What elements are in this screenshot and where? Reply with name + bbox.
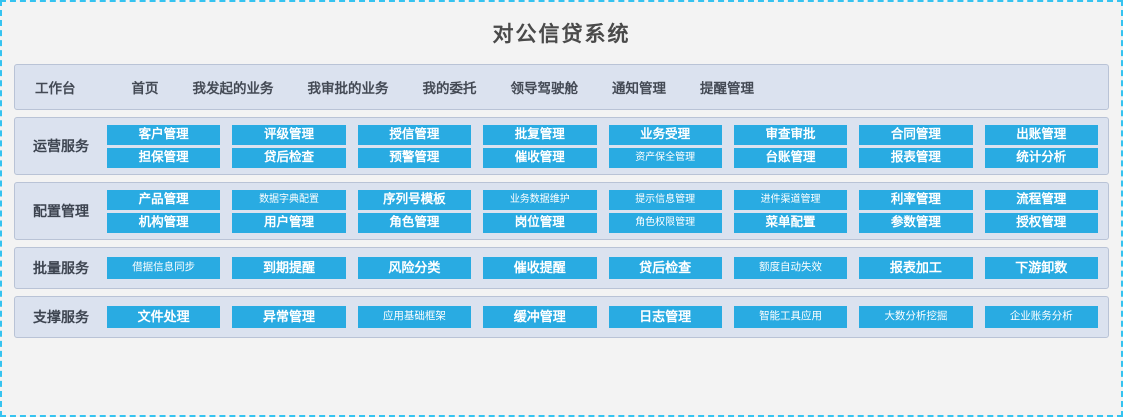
button-cell: 数据字典配置 xyxy=(232,190,345,210)
menu-button[interactable]: 评级管理 xyxy=(232,125,345,145)
title-bar: 对公信贷系统 xyxy=(14,2,1109,64)
menu-button[interactable]: 提示信息管理 xyxy=(609,190,722,210)
button-row: 文件处理异常管理应用基础框架缓冲管理日志管理智能工具应用大数分析挖掘企业账务分析 xyxy=(107,306,1098,328)
section-1: 配置管理产品管理数据字典配置序列号模板业务数据维护提示信息管理进件渠道管理利率管… xyxy=(14,182,1109,240)
button-cell: 风险分类 xyxy=(358,257,471,279)
nav-item-3[interactable]: 我审批的业务 xyxy=(308,77,389,97)
button-cell: 授权管理 xyxy=(985,213,1098,233)
menu-button[interactable]: 催收提醒 xyxy=(483,257,596,279)
button-cell: 授信管理 xyxy=(358,125,471,145)
button-cell: 客户管理 xyxy=(107,125,220,145)
button-cell: 合同管理 xyxy=(859,125,972,145)
button-cell: 贷后检查 xyxy=(609,257,722,279)
nav-item-1[interactable]: 首页 xyxy=(132,77,159,97)
menu-button[interactable]: 授权管理 xyxy=(985,213,1098,233)
button-cell: 参数管理 xyxy=(859,213,972,233)
button-cell: 业务数据维护 xyxy=(483,190,596,210)
menu-button[interactable]: 智能工具应用 xyxy=(734,306,847,328)
menu-button[interactable]: 催收管理 xyxy=(483,148,596,168)
menu-button[interactable]: 报表加工 xyxy=(859,257,972,279)
menu-button[interactable]: 合同管理 xyxy=(859,125,972,145)
menu-button[interactable]: 风险分类 xyxy=(358,257,471,279)
button-cell: 业务受理 xyxy=(609,125,722,145)
button-cell: 审查审批 xyxy=(734,125,847,145)
menu-button[interactable]: 借据信息同步 xyxy=(107,257,220,279)
menu-button[interactable]: 参数管理 xyxy=(859,213,972,233)
menu-button[interactable]: 下游卸数 xyxy=(985,257,1098,279)
button-cell: 角色管理 xyxy=(358,213,471,233)
section-button-grid-0: 客户管理评级管理授信管理批复管理业务受理审查审批合同管理出账管理担保管理贷后检查… xyxy=(107,125,1098,168)
section-2: 批量服务借据信息同步到期提醒风险分类催收提醒贷后检查额度自动失效报表加工下游卸数 xyxy=(14,247,1109,289)
button-cell: 报表管理 xyxy=(859,148,972,168)
button-cell: 智能工具应用 xyxy=(734,306,847,328)
button-cell: 催收管理 xyxy=(483,148,596,168)
button-row: 担保管理贷后检查预警管理催收管理资产保全管理台账管理报表管理统计分析 xyxy=(107,148,1098,168)
button-cell: 资产保全管理 xyxy=(609,148,722,168)
button-row: 机构管理用户管理角色管理岗位管理角色权限管理菜单配置参数管理授权管理 xyxy=(107,213,1098,233)
menu-button[interactable]: 业务数据维护 xyxy=(483,190,596,210)
button-cell: 批复管理 xyxy=(483,125,596,145)
button-cell: 日志管理 xyxy=(609,306,722,328)
menu-button[interactable]: 大数分析挖掘 xyxy=(859,306,972,328)
section-label-2: 批量服务 xyxy=(15,258,107,278)
menu-button[interactable]: 进件渠道管理 xyxy=(734,190,847,210)
button-cell: 菜单配置 xyxy=(734,213,847,233)
menu-button[interactable]: 流程管理 xyxy=(985,190,1098,210)
menu-button[interactable]: 资产保全管理 xyxy=(609,148,722,168)
menu-button[interactable]: 日志管理 xyxy=(609,306,722,328)
app-root: 对公信贷系统 工作台首页我发起的业务我审批的业务我的委托领导驾驶舱通知管理提醒管… xyxy=(0,0,1123,417)
section-label-0: 运营服务 xyxy=(15,136,107,156)
button-cell: 岗位管理 xyxy=(483,213,596,233)
menu-button[interactable]: 到期提醒 xyxy=(232,257,345,279)
button-cell: 到期提醒 xyxy=(232,257,345,279)
button-cell: 进件渠道管理 xyxy=(734,190,847,210)
button-cell: 应用基础框架 xyxy=(358,306,471,328)
button-cell: 企业账务分析 xyxy=(985,306,1098,328)
sections-container: 运营服务客户管理评级管理授信管理批复管理业务受理审查审批合同管理出账管理担保管理… xyxy=(14,117,1109,338)
nav-item-2[interactable]: 我发起的业务 xyxy=(193,77,274,97)
menu-button[interactable]: 额度自动失效 xyxy=(734,257,847,279)
button-cell: 提示信息管理 xyxy=(609,190,722,210)
menu-button[interactable]: 缓冲管理 xyxy=(483,306,596,328)
menu-button[interactable]: 角色权限管理 xyxy=(609,213,722,233)
button-cell: 预警管理 xyxy=(358,148,471,168)
button-cell: 序列号模板 xyxy=(358,190,471,210)
button-cell: 出账管理 xyxy=(985,125,1098,145)
button-row: 客户管理评级管理授信管理批复管理业务受理审查审批合同管理出账管理 xyxy=(107,125,1098,145)
button-cell: 机构管理 xyxy=(107,213,220,233)
section-label-1: 配置管理 xyxy=(15,201,107,221)
nav-item-6[interactable]: 通知管理 xyxy=(612,77,666,97)
section-label-3: 支撑服务 xyxy=(15,307,107,327)
nav-item-5[interactable]: 领导驾驶舱 xyxy=(511,77,579,97)
button-cell: 产品管理 xyxy=(107,190,220,210)
menu-button[interactable]: 用户管理 xyxy=(232,213,345,233)
menu-button[interactable]: 统计分析 xyxy=(985,148,1098,168)
menu-button[interactable]: 贷后检查 xyxy=(609,257,722,279)
button-cell: 大数分析挖掘 xyxy=(859,306,972,328)
button-cell: 评级管理 xyxy=(232,125,345,145)
menu-button[interactable]: 应用基础框架 xyxy=(358,306,471,328)
button-cell: 异常管理 xyxy=(232,306,345,328)
menu-button[interactable]: 菜单配置 xyxy=(734,213,847,233)
nav-item-4[interactable]: 我的委托 xyxy=(423,77,477,97)
button-cell: 借据信息同步 xyxy=(107,257,220,279)
menu-button[interactable]: 审查审批 xyxy=(734,125,847,145)
menu-button[interactable]: 客户管理 xyxy=(107,125,220,145)
button-row: 产品管理数据字典配置序列号模板业务数据维护提示信息管理进件渠道管理利率管理流程管… xyxy=(107,190,1098,210)
menu-button[interactable]: 产品管理 xyxy=(107,190,220,210)
section-button-grid-1: 产品管理数据字典配置序列号模板业务数据维护提示信息管理进件渠道管理利率管理流程管… xyxy=(107,190,1098,233)
nav-item-7[interactable]: 提醒管理 xyxy=(700,77,754,97)
section-button-grid-2: 借据信息同步到期提醒风险分类催收提醒贷后检查额度自动失效报表加工下游卸数 xyxy=(107,257,1098,279)
menu-button[interactable]: 担保管理 xyxy=(107,148,220,168)
section-3: 支撑服务文件处理异常管理应用基础框架缓冲管理日志管理智能工具应用大数分析挖掘企业… xyxy=(14,296,1109,338)
button-cell: 担保管理 xyxy=(107,148,220,168)
button-cell: 角色权限管理 xyxy=(609,213,722,233)
button-cell: 统计分析 xyxy=(985,148,1098,168)
menu-button[interactable]: 预警管理 xyxy=(358,148,471,168)
button-cell: 用户管理 xyxy=(232,213,345,233)
menu-button[interactable]: 授信管理 xyxy=(358,125,471,145)
menu-button[interactable]: 报表管理 xyxy=(859,148,972,168)
menu-button[interactable]: 出账管理 xyxy=(985,125,1098,145)
section-button-grid-3: 文件处理异常管理应用基础框架缓冲管理日志管理智能工具应用大数分析挖掘企业账务分析 xyxy=(107,306,1098,328)
button-cell: 台账管理 xyxy=(734,148,847,168)
menu-button[interactable]: 数据字典配置 xyxy=(232,190,345,210)
button-cell: 流程管理 xyxy=(985,190,1098,210)
menu-button[interactable]: 异常管理 xyxy=(232,306,345,328)
menu-button[interactable]: 岗位管理 xyxy=(483,213,596,233)
section-0: 运营服务客户管理评级管理授信管理批复管理业务受理审查审批合同管理出账管理担保管理… xyxy=(14,117,1109,175)
button-cell: 缓冲管理 xyxy=(483,306,596,328)
menu-button[interactable]: 企业账务分析 xyxy=(985,306,1098,328)
menu-button[interactable]: 批复管理 xyxy=(483,125,596,145)
button-cell: 额度自动失效 xyxy=(734,257,847,279)
menu-button[interactable]: 文件处理 xyxy=(107,306,220,328)
button-cell: 催收提醒 xyxy=(483,257,596,279)
button-cell: 文件处理 xyxy=(107,306,220,328)
menu-button[interactable]: 贷后检查 xyxy=(232,148,345,168)
button-cell: 利率管理 xyxy=(859,190,972,210)
button-row: 借据信息同步到期提醒风险分类催收提醒贷后检查额度自动失效报表加工下游卸数 xyxy=(107,257,1098,279)
menu-button[interactable]: 业务受理 xyxy=(609,125,722,145)
menu-button[interactable]: 机构管理 xyxy=(107,213,220,233)
menu-button[interactable]: 利率管理 xyxy=(859,190,972,210)
main-navigation-bar: 工作台首页我发起的业务我审批的业务我的委托领导驾驶舱通知管理提醒管理 xyxy=(14,64,1109,110)
menu-button[interactable]: 台账管理 xyxy=(734,148,847,168)
button-cell: 下游卸数 xyxy=(985,257,1098,279)
nav-item-0[interactable]: 工作台 xyxy=(35,77,76,97)
menu-button[interactable]: 角色管理 xyxy=(358,213,471,233)
button-cell: 贷后检查 xyxy=(232,148,345,168)
page-title: 对公信贷系统 xyxy=(493,18,631,48)
menu-button[interactable]: 序列号模板 xyxy=(358,190,471,210)
button-cell: 报表加工 xyxy=(859,257,972,279)
